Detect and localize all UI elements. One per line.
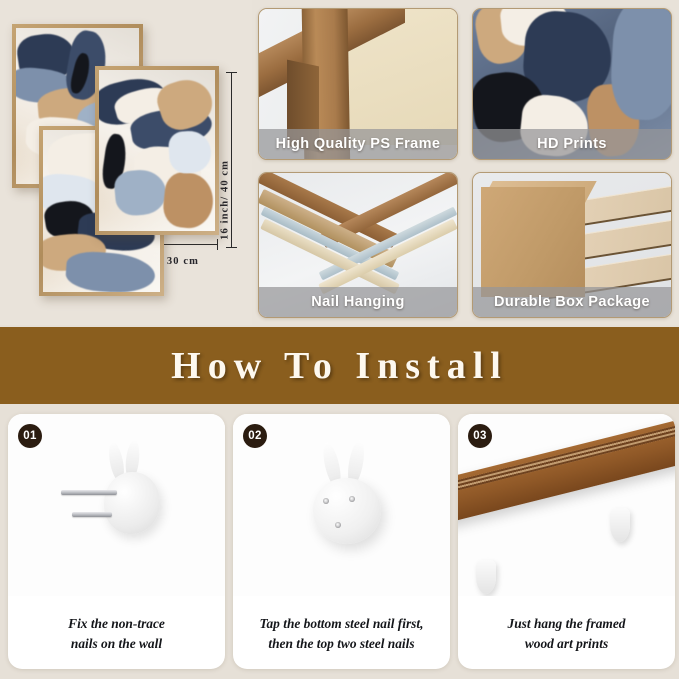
- install-step-02: 02 Tap the bottom steel nail first,then …: [233, 414, 450, 669]
- feature-card-ps-frame: High Quality PS Frame: [258, 8, 458, 160]
- feature-label-nail-hanging: Nail Hanging: [259, 287, 457, 317]
- abstract-artwork: [99, 70, 215, 231]
- step-number-badge: 03: [468, 424, 492, 448]
- feature-card-box-package: Durable Box Package: [472, 172, 672, 318]
- nail-hole: [323, 498, 329, 504]
- step-number-badge: 01: [18, 424, 42, 448]
- height-dimension-line: [231, 72, 232, 248]
- brushstroke: [609, 8, 672, 122]
- step-caption: Tap the bottom steel nail first,then the…: [243, 614, 440, 653]
- step-number-badge: 02: [243, 424, 267, 448]
- how-to-install-banner: How To Install: [0, 327, 679, 404]
- step-caption: Just hang the framedwood art prints: [468, 614, 665, 653]
- feature-card-nail-hanging: Nail Hanging: [258, 172, 458, 318]
- wall-hook-illustration: [295, 444, 399, 564]
- feature-label-hd-prints: HD Prints: [473, 129, 671, 159]
- hook-body: [104, 472, 160, 534]
- wall-hook: [610, 508, 630, 542]
- product-infographic: 16 inch/ 40 cm 12 inch/ 30 cm High Quali…: [0, 0, 679, 679]
- banner-title: How To Install: [171, 344, 508, 388]
- installation-steps: 01 Fix the non-tracenails on the wall 02: [0, 414, 679, 669]
- step-caption: Fix the non-tracenails on the wall: [18, 614, 215, 653]
- install-step-03: 03 Just hang the framedwood art prints: [458, 414, 675, 669]
- feature-label-ps-frame: High Quality PS Frame: [259, 129, 457, 159]
- steel-nail: [72, 512, 112, 517]
- hook-body: [313, 478, 381, 544]
- steel-nail: [61, 490, 117, 495]
- feature-card-hd-prints: HD Prints: [472, 8, 672, 160]
- feature-label-box-package: Durable Box Package: [473, 287, 671, 317]
- framed-art-dimension-panel: 16 inch/ 40 cm 12 inch/ 30 cm: [0, 0, 252, 325]
- nail-hole: [335, 522, 341, 528]
- wall-hook: [476, 560, 496, 594]
- product-overview-section: 16 inch/ 40 cm 12 inch/ 30 cm High Quali…: [0, 0, 679, 325]
- feature-card-grid: High Quality PS Frame HD Prints: [258, 8, 672, 318]
- height-dimension-label: 16 inch/ 40 cm: [220, 160, 231, 240]
- art-frame-front-right: [95, 66, 219, 235]
- box-front-face: [481, 187, 585, 297]
- install-step-01: 01 Fix the non-tracenails on the wall: [8, 414, 225, 669]
- wall-hook-illustration: [66, 450, 176, 560]
- nail-hole: [349, 496, 355, 502]
